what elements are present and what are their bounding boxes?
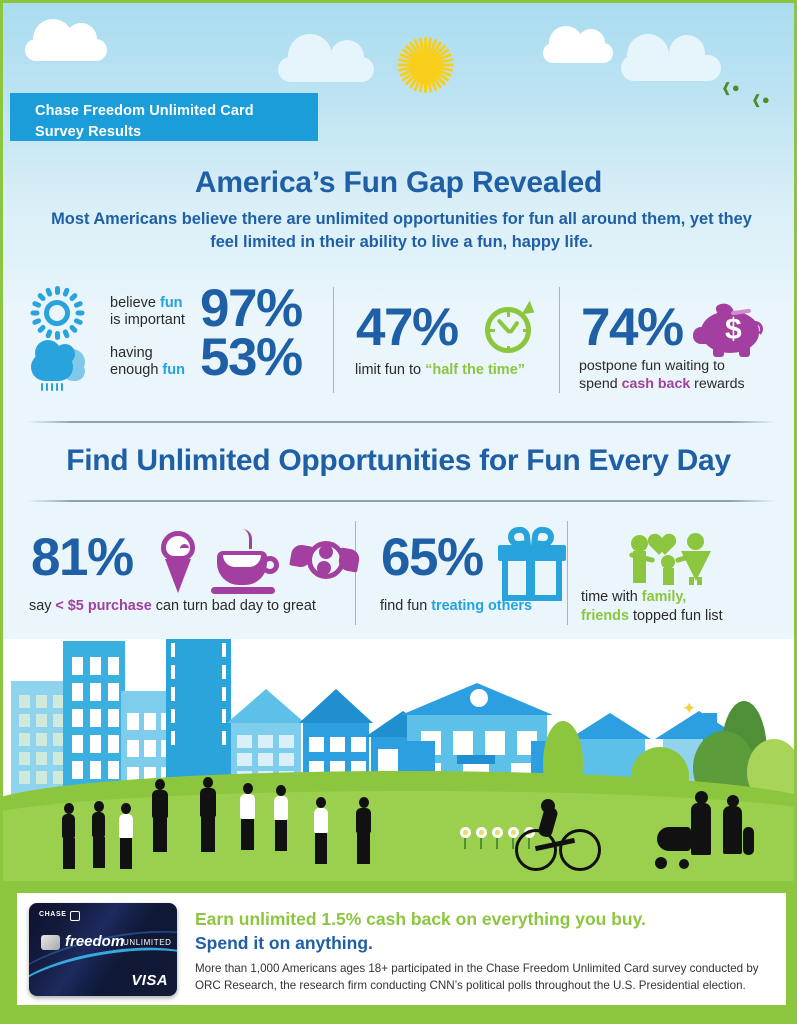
awning (457, 755, 495, 764)
window (453, 731, 473, 755)
caption-accent: < $5 purchase (55, 598, 151, 614)
divider (27, 421, 776, 423)
window (36, 752, 47, 765)
clock-icon (481, 303, 537, 359)
window (127, 740, 139, 757)
card-brand-sub: UNLIMITED (123, 938, 172, 947)
window (279, 735, 294, 748)
caption-text: topped fun list (629, 608, 723, 624)
window (19, 695, 30, 708)
offer-card: CHASE freedom UNLIMITED VISA Earn unlimi… (17, 893, 786, 1005)
rain-drop (46, 383, 48, 391)
divider (27, 500, 776, 502)
badge-line-1: Chase Freedom Unlimited Card (35, 101, 318, 122)
window (72, 683, 83, 701)
person-silhouette (118, 803, 134, 861)
window (378, 749, 398, 771)
window (36, 771, 47, 784)
flower-icon (491, 827, 503, 849)
flower-icon (475, 827, 487, 849)
building (11, 681, 71, 801)
survey-badge: Chase Freedom Unlimited Card Survey Resu… (10, 93, 318, 141)
cloud-icon (543, 43, 613, 63)
stat-label-enough-fun: having enough fun (110, 345, 185, 380)
stat-value-53: 53% (200, 327, 302, 388)
bird-icon: ❰● (751, 93, 770, 106)
window (19, 752, 30, 765)
window (36, 695, 47, 708)
stat-value-74: 74% (581, 297, 683, 358)
page-title: America’s Fun Gap Revealed (3, 166, 794, 200)
label-text: is important (110, 312, 185, 328)
caption-text: limit fun to (355, 362, 425, 378)
window (108, 657, 119, 675)
window (90, 657, 101, 675)
section-title: Find Unlimited Opportunities for Fun Eve… (3, 444, 794, 478)
piggy-bank-icon: $ (695, 301, 765, 359)
chase-logo-text: CHASE (39, 911, 67, 918)
window (144, 740, 156, 757)
sun-icon (403, 39, 447, 91)
rain-drop (61, 383, 63, 391)
roof (227, 689, 305, 723)
window (127, 713, 139, 730)
building (63, 641, 125, 801)
person-silhouette (199, 777, 217, 845)
person-silhouette (355, 797, 372, 857)
cloud-icon (25, 39, 107, 61)
window (19, 733, 30, 746)
label-accent: fun (162, 362, 185, 378)
coffee-cup-icon (211, 529, 283, 603)
badge-line-2: Survey Results (35, 122, 318, 143)
window (90, 761, 101, 779)
bird-icon: ❰● (721, 81, 740, 94)
divider (567, 521, 568, 625)
window (279, 753, 294, 766)
ice-cream-icon (155, 531, 201, 601)
chase-octagon-icon (70, 911, 80, 921)
stat-caption-family-friends: time with family, friends topped fun lis… (581, 588, 723, 625)
visa-logo: VISA (131, 972, 168, 989)
sun-icon (30, 287, 84, 339)
infographic-poster: ❰● ❰● Chase Freedom Unlimited Card Surve… (0, 0, 797, 1024)
window (90, 735, 101, 753)
cloud-icon (621, 55, 721, 81)
town-illustration: ✦ (3, 639, 797, 891)
window (108, 709, 119, 727)
window (237, 735, 252, 748)
rain-cloud-icon (25, 343, 89, 391)
caption-text: say (29, 598, 55, 614)
caption-text: find fun (380, 598, 431, 614)
family-icon (613, 523, 723, 585)
footer-banner: CHASE freedom UNLIMITED VISA Earn unlimi… (3, 881, 797, 1021)
window (72, 761, 83, 779)
caption-accent: family, (642, 589, 687, 605)
window (19, 714, 30, 727)
window (72, 657, 83, 675)
window (90, 683, 101, 701)
person-silhouette (151, 779, 169, 845)
window (72, 709, 83, 727)
page-subtitle: Most Americans believe there are unlimit… (41, 208, 762, 255)
divider (559, 287, 560, 393)
rain-drop (51, 383, 53, 391)
stat-value-81: 81% (31, 527, 133, 588)
window (237, 753, 252, 766)
window (108, 683, 119, 701)
window (144, 713, 156, 730)
window (485, 731, 505, 755)
window (258, 753, 273, 766)
window (351, 737, 366, 752)
caption-accent: “half the time” (425, 362, 525, 378)
stat-caption-half-the-time: limit fun to “half the time” (355, 362, 525, 378)
card-brand-name: freedom (65, 933, 124, 950)
label-text: believe (110, 295, 160, 311)
window (36, 714, 47, 727)
roof (569, 713, 651, 739)
window (72, 735, 83, 753)
stats-row-secondary: 81% say < $5 purchase can turn bad day t… (3, 521, 797, 631)
disclaimer-text: More than 1,000 Americans ages 18+ parti… (195, 961, 783, 995)
offer-subheadline: Spend it on anything. (195, 933, 373, 954)
offer-headline: Earn unlimited 1.5% cash back on everyth… (195, 909, 646, 930)
child-scooter-silhouette (527, 821, 563, 867)
flower-icon (459, 827, 471, 849)
person-silhouette (239, 783, 256, 843)
rain-drop (56, 383, 58, 391)
label-accent: fun (160, 295, 183, 311)
caption-text: rewards (690, 376, 744, 392)
clock-icon (468, 687, 490, 709)
caption-text: postpone fun waiting to (579, 358, 725, 374)
divider (333, 287, 334, 393)
stroller-family-silhouette (643, 791, 763, 869)
caption-accent: cash back (622, 376, 691, 392)
credit-card-image: CHASE freedom UNLIMITED VISA (29, 903, 177, 996)
stat-value-47: 47% (356, 297, 458, 358)
window (36, 733, 47, 746)
window (108, 735, 119, 753)
label-text: having (110, 345, 153, 361)
stat-label-believe-fun: believe fun is important (110, 295, 185, 330)
sky-background: ❰● ❰● (3, 3, 794, 303)
window (19, 771, 30, 784)
stat-value-65: 65% (381, 527, 483, 588)
label-text: enough (110, 362, 162, 378)
person-silhouette (273, 785, 289, 843)
person-silhouette (61, 803, 76, 861)
window (309, 737, 324, 752)
gift-icon (498, 525, 566, 603)
butterfly-icon: ✦ (682, 699, 696, 719)
chip-icon (41, 935, 60, 950)
caption-text: spend (579, 376, 622, 392)
caption-accent: friends (581, 608, 629, 624)
window (90, 709, 101, 727)
window (258, 735, 273, 748)
person-silhouette (313, 797, 329, 857)
window (108, 761, 119, 779)
caption-text: time with (581, 589, 642, 605)
roof (299, 689, 373, 723)
rain-drop (41, 383, 43, 391)
candy-icon (291, 535, 357, 593)
person-silhouette (91, 801, 106, 861)
stat-caption-cash-back: postpone fun waiting to spend cash back … (579, 358, 745, 394)
window (330, 737, 345, 752)
stats-row-primary: believe fun is important 97% having enou… (3, 281, 797, 403)
cloud-icon (278, 57, 374, 82)
